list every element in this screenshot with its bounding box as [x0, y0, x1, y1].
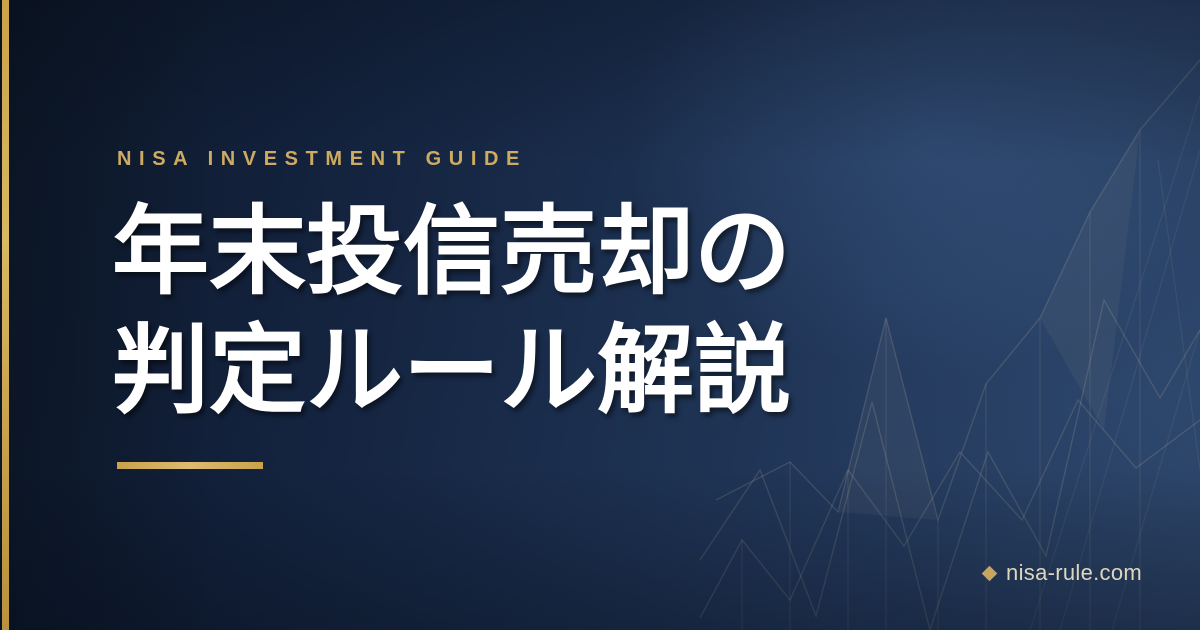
banner-canvas: NISA INVESTMENT GUIDE 年末投信売却の 判定ルール解説 ni…	[0, 0, 1200, 630]
banner-content: NISA INVESTMENT GUIDE 年末投信売却の 判定ルール解説	[117, 0, 957, 630]
site-url-label: nisa-rule.com	[1006, 560, 1142, 586]
page-title: 年末投信売却の 判定ルール解説	[112, 192, 791, 430]
diamond-icon	[982, 565, 998, 581]
page-title-line-2: 判定ルール解説	[112, 311, 791, 430]
eyebrow-label: NISA INVESTMENT GUIDE	[117, 148, 527, 171]
left-gold-rail	[2, 0, 9, 630]
page-title-line-1: 年末投信売却の	[112, 192, 791, 311]
site-credit: nisa-rule.com	[984, 560, 1142, 586]
gold-accent-bar	[117, 462, 263, 469]
